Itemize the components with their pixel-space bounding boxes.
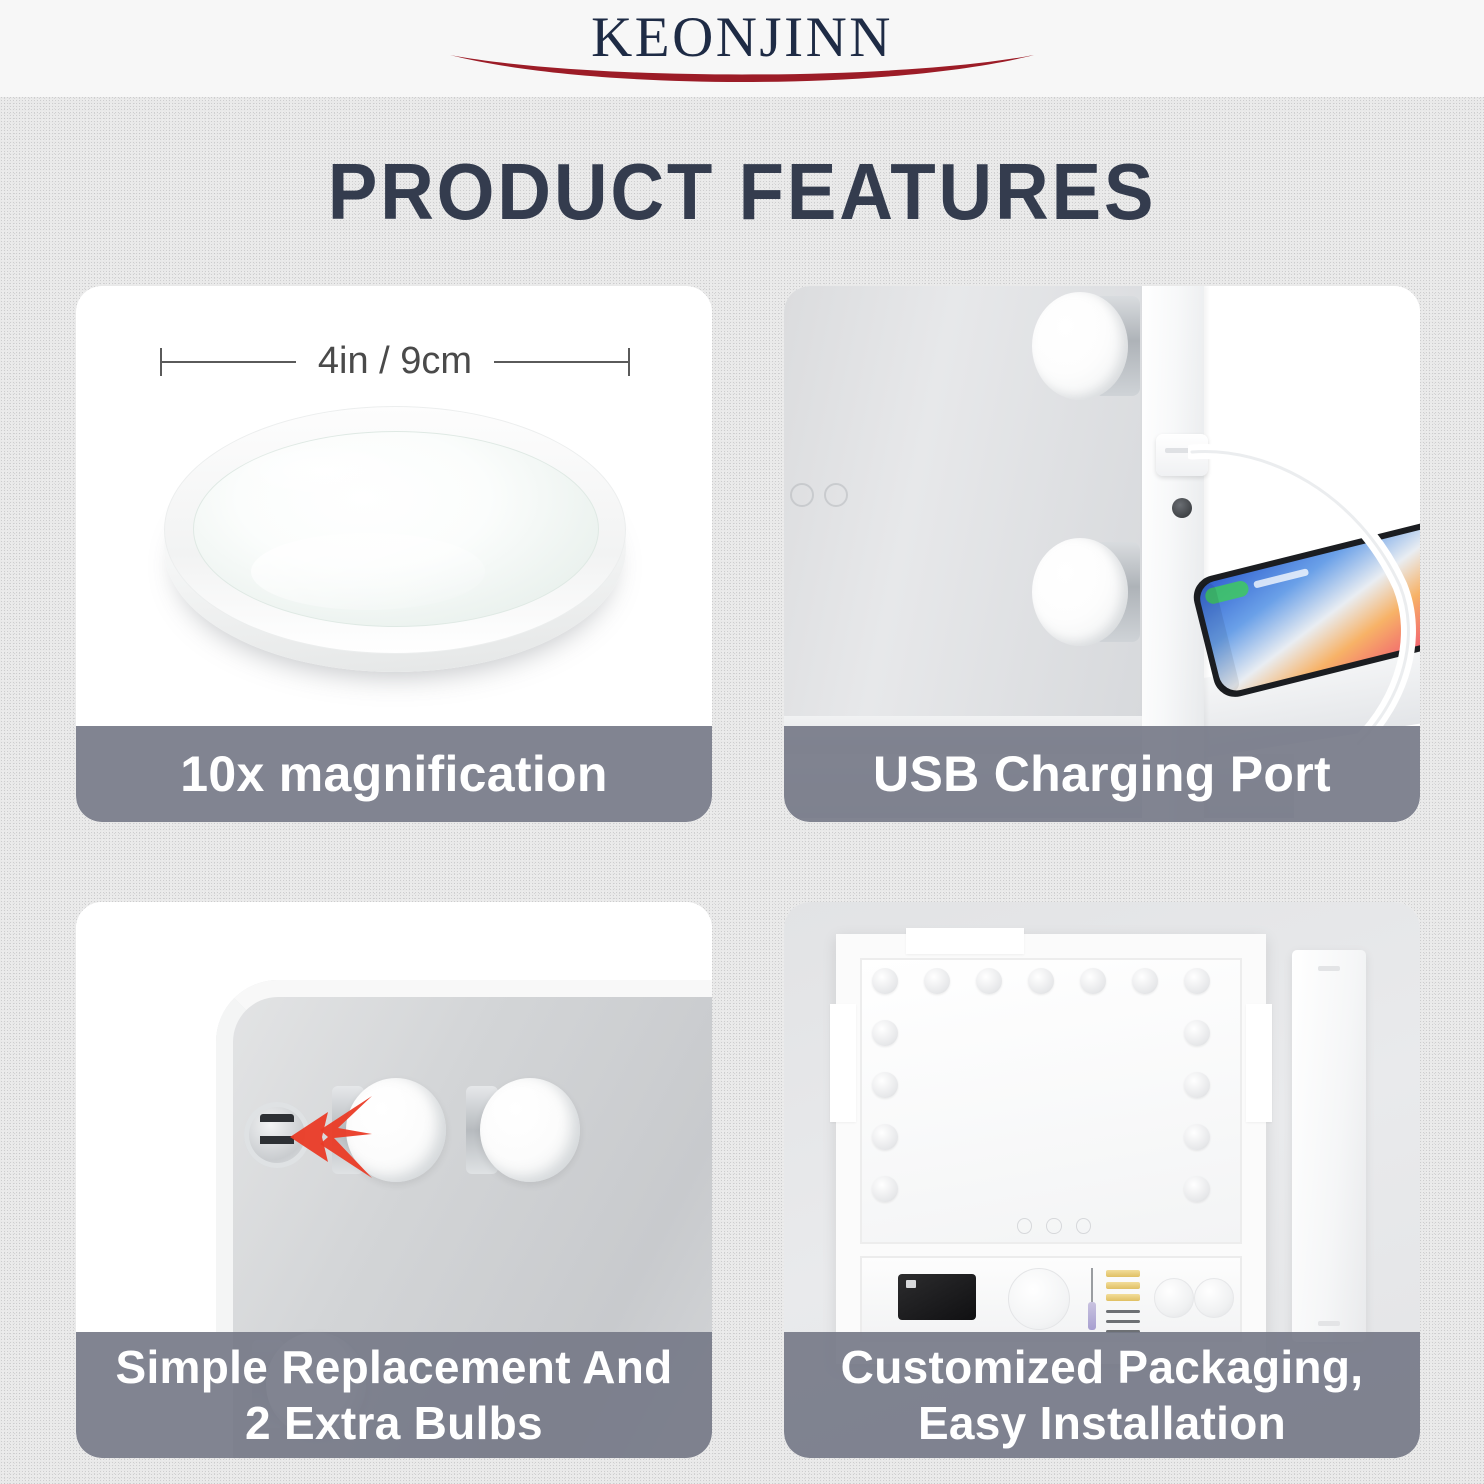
led-bulb [872,1020,898,1046]
bulb-globe [1032,292,1128,400]
led-bulb [1184,1072,1210,1098]
led-bulb [1184,968,1210,994]
led-bulb [1032,292,1140,400]
brand-swoosh-icon [442,51,1042,91]
wall-anchor [1106,1270,1140,1277]
dimension-label: 4in / 9cm [160,342,630,380]
accessory-tray [860,1256,1242,1342]
led-bulb [1132,968,1158,994]
mirror-stand-bar [1292,950,1366,1342]
touch-control-dot [790,483,814,507]
led-bulb [924,968,950,994]
led-bulb [872,968,898,994]
led-bulb [976,968,1002,994]
touch-control-dot [1046,1218,1061,1234]
feature-card-bulb-replacement: Simple Replacement And 2 Extra Bulbs [76,902,712,1458]
screw [1106,1310,1140,1313]
mirror-in-box [860,958,1242,1244]
led-bulb [1080,968,1106,994]
led-bulb [1032,538,1140,646]
infographic-page: KEONJINN PRODUCT FEATURES 4in / 9cm [0,0,1484,1484]
led-bulb [466,1078,586,1182]
product-box [836,934,1266,1364]
screw [1106,1320,1140,1323]
feature-card-packaging: Customized Packaging, Easy Installation [784,902,1420,1458]
lens-highlight [235,441,415,501]
touch-controls-icon [790,482,880,508]
led-bulb [872,1176,898,1202]
extra-bulb [1194,1278,1234,1318]
power-adapter [898,1274,976,1320]
caption-line-1: USB Charging Port [873,745,1331,803]
replacement-arrow-icon [276,1082,386,1192]
magnifier-lens [164,406,626,706]
box-tape [1246,1004,1272,1122]
card-caption-packaging: Customized Packaging, Easy Installation [784,1332,1420,1458]
led-bulb [1184,1176,1210,1202]
box-tape [906,928,1024,954]
feature-card-usb-charging: USB Charging Port [784,286,1420,822]
page-title: PRODUCT FEATURES [52,152,1432,232]
touch-control-dot [1076,1218,1091,1234]
touch-control-dot [1017,1218,1032,1234]
bulb-globe [480,1078,580,1182]
card-caption-bulb-replacement: Simple Replacement And 2 Extra Bulbs [76,1332,712,1458]
feature-card-magnification: 4in / 9cm 10x magnification [76,286,712,822]
wall-anchor [1106,1282,1140,1289]
wall-anchor [1106,1294,1140,1301]
bulb-globe [1032,538,1128,646]
dimension-line: 4in / 9cm [160,342,630,380]
caption-line-2: Easy Installation [918,1395,1286,1451]
touch-control-dot [824,483,848,507]
extra-bulb [1154,1278,1194,1318]
caption-line-2: 2 Extra Bulbs [245,1395,543,1451]
charging-cable [1188,436,1420,766]
caption-line-1: Customized Packaging, [841,1339,1364,1395]
screwdriver-grip [1088,1302,1096,1330]
lens-rim [164,406,626,654]
led-bulb [872,1124,898,1150]
screwdriver-accessory [1088,1268,1096,1330]
brand-header: KEONJINN [0,0,1484,97]
box-tape [830,1004,856,1122]
card-caption-magnification: 10x magnification [76,726,712,822]
card-caption-usb-charging: USB Charging Port [784,726,1420,822]
led-bulb [1184,1020,1210,1046]
caption-line-1: 10x magnification [180,745,607,803]
caption-line-1: Simple Replacement And [115,1339,672,1395]
led-bulb [1028,968,1054,994]
touch-controls-icon [1017,1218,1091,1232]
brand-logo: KEONJINN [422,3,1062,91]
screwdriver-shaft [1091,1268,1093,1304]
magnifying-mirror-accessory [1008,1268,1070,1330]
led-bulb [872,1072,898,1098]
led-bulb [1184,1124,1210,1150]
